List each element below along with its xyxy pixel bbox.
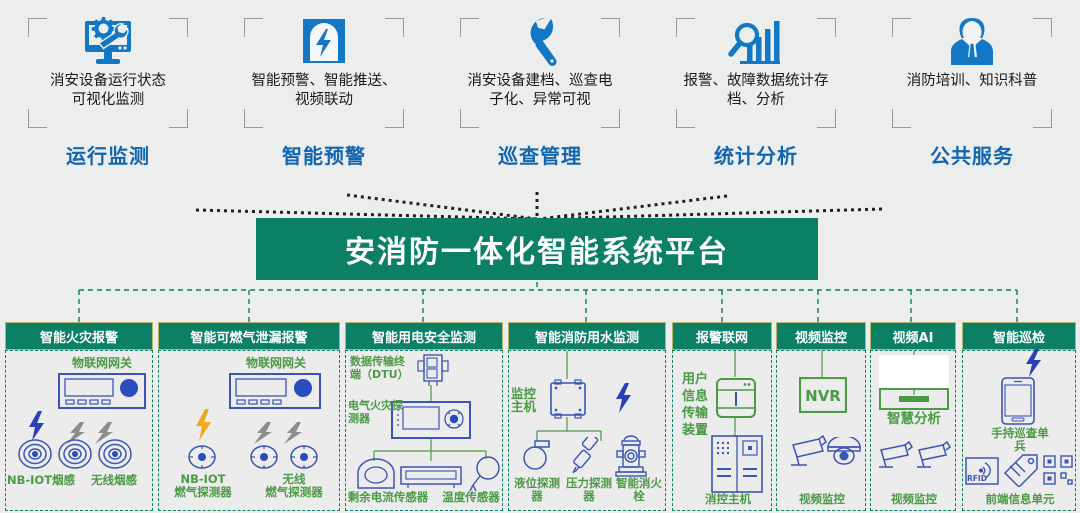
capability-description: 智能预警、智能推送、 视频联动 bbox=[239, 72, 409, 110]
panel-header: 视频AI bbox=[870, 322, 956, 350]
diagram-root: 消安设备运行状态 可视化监测 运行监测 智能预警、智能推送、 视频联动 智能预警 bbox=[0, 0, 1080, 513]
gas-detector-icon-1 bbox=[187, 443, 217, 471]
bullet-camera-icon-1 bbox=[873, 441, 915, 471]
panel-body: 物联网网关 bbox=[5, 350, 153, 511]
subsystem-panel-smart-inspection[interactable]: 智能巡检 手持巡查单 兵 bbox=[962, 320, 1076, 513]
panel-header: 智能消防用水监测 bbox=[508, 322, 666, 350]
platform-title: 安消防一体化智能系统平台 bbox=[345, 227, 729, 271]
panel-body: 智慧分析 bbox=[870, 350, 956, 511]
handheld-terminal-icon bbox=[1001, 377, 1035, 425]
nvr-device-icon: NVR bbox=[799, 377, 847, 413]
bar-chart-magnifier-icon bbox=[726, 14, 786, 70]
subsystem-panel-alarm-network[interactable]: 报警联网 用户 信息 传输 装置 bbox=[672, 320, 772, 513]
panel-wiring bbox=[777, 351, 867, 511]
dome-camera-icon bbox=[825, 437, 863, 469]
panel-body: 手持巡查单 兵 RFID bbox=[962, 350, 1076, 511]
wireless-signal-icon bbox=[251, 421, 315, 445]
smoke-detector-icon-3 bbox=[98, 439, 132, 469]
bus-connector-lines bbox=[0, 282, 1080, 324]
panel-header: 报警联网 bbox=[672, 322, 772, 350]
capability-description: 消安设备运行状态 可视化监测 bbox=[23, 72, 193, 110]
device-label-video-surveillance: 视频监控 bbox=[785, 493, 859, 506]
device-label-fire-control-host: 消控主机 bbox=[691, 493, 765, 506]
gas-detector-icon-3 bbox=[289, 443, 319, 471]
signal-bolt-icon bbox=[193, 409, 213, 441]
device-label-gateway: 物联网网关 bbox=[54, 357, 150, 370]
wrench-icon bbox=[513, 14, 567, 70]
device-label-monitoring-host: 监控 主机 bbox=[511, 387, 555, 413]
capability-title: 巡查管理 bbox=[432, 140, 648, 169]
platform-banner[interactable]: 安消防一体化智能系统平台 bbox=[256, 218, 818, 280]
panel-header: 智能用电安全监测 bbox=[345, 322, 503, 350]
transmission-device-icon bbox=[715, 377, 757, 419]
smoke-detector-icon-2 bbox=[58, 439, 92, 469]
capability-card-public-service[interactable]: 消防培训、知识科普 公共服务 bbox=[864, 0, 1080, 178]
inspection-tag-icon bbox=[1001, 453, 1041, 487]
device-label-video-surveillance: 视频监控 bbox=[871, 493, 957, 506]
capability-description: 消安设备建档、巡查电 子化、异常可视 bbox=[455, 72, 625, 110]
smoke-detector-icon-1 bbox=[18, 439, 52, 469]
subsystem-panel-video-ai[interactable]: 视频AI 智慧分析 bbox=[870, 320, 956, 513]
device-label-wireless-gas: 无线 燃气探测器 bbox=[251, 473, 337, 499]
signal-bolt-icon bbox=[613, 383, 633, 413]
analysis-screen-icon bbox=[879, 355, 949, 411]
bullet-camera-icon bbox=[783, 435, 829, 469]
subsystem-panel-video-surveillance[interactable]: 视频监控 NVR bbox=[776, 320, 866, 513]
dtu-icon bbox=[416, 353, 450, 387]
subsystem-panel-gas-leak[interactable]: 智能可燃气泄漏报警 物联网网关 bbox=[158, 320, 340, 513]
panel-body: 监控 主机 bbox=[508, 350, 666, 511]
temperature-sensor-icon bbox=[464, 455, 502, 493]
capability-title: 智能预警 bbox=[216, 140, 432, 169]
panel-body: 用户 信息 传输 装置 bbox=[672, 350, 772, 511]
subsystem-panel-electrical-safety[interactable]: 智能用电安全监测 bbox=[345, 320, 503, 513]
panel-header: 智能火灾报警 bbox=[5, 322, 153, 350]
panel-header: 智能巡检 bbox=[962, 322, 1076, 350]
device-label-smart-hydrant: 智能消火 栓 bbox=[611, 477, 667, 503]
capability-title: 运行监测 bbox=[0, 140, 216, 169]
sensor-bar-icon bbox=[400, 463, 462, 489]
device-label-dtu: 数据传输终 端（DTU） bbox=[350, 355, 416, 381]
signal-bolt-icon bbox=[26, 411, 46, 441]
capability-card-inspection-management[interactable]: 消安设备建档、巡查电 子化、异常可视 巡查管理 bbox=[432, 0, 648, 178]
fan-connector-lines bbox=[0, 168, 1080, 224]
subsystem-panel-water-monitoring[interactable]: 智能消防用水监测 bbox=[508, 320, 666, 513]
device-label-nbiot-smoke: NB-IOT烟感 bbox=[6, 474, 76, 487]
capability-title: 公共服务 bbox=[864, 140, 1080, 169]
fire-control-host-icon bbox=[711, 435, 763, 493]
capability-description: 消防培训、知识科普 bbox=[887, 72, 1057, 91]
capability-row: 消安设备运行状态 可视化监测 运行监测 智能预警、智能推送、 视频联动 智能预警 bbox=[0, 0, 1080, 178]
device-label-electrical-detector: 电气火灾探 测器 bbox=[348, 399, 406, 425]
iot-gateway-icon bbox=[229, 373, 321, 409]
device-label-temperature-sensor: 温度传感器 bbox=[434, 491, 508, 504]
device-label-liquid-level: 液位探测 器 bbox=[509, 477, 565, 503]
device-label-pressure: 压力探测 器 bbox=[561, 477, 617, 503]
device-label-residual-current: 剩余电流传感器 bbox=[342, 491, 434, 504]
person-tie-icon bbox=[945, 14, 999, 70]
svg-text:NVR: NVR bbox=[805, 387, 841, 405]
panel-header: 智能可燃气泄漏报警 bbox=[158, 322, 340, 350]
capability-title: 统计分析 bbox=[648, 140, 864, 169]
smart-hydrant-icon bbox=[613, 435, 649, 477]
device-label-gateway: 物联网网关 bbox=[221, 357, 331, 370]
panel-body: 数据传输终 端（DTU） 电气火灾探 测器 bbox=[345, 350, 503, 511]
device-label-wireless-smoke: 无线烟感 bbox=[78, 474, 150, 487]
signal-bolt-icon bbox=[1023, 349, 1043, 377]
subsystem-panel-fire-alarm[interactable]: 智能火灾报警 物联网网关 bbox=[5, 320, 153, 513]
panel-header: 视频监控 bbox=[776, 322, 866, 350]
capability-description: 报警、故障数据统计存 档、分析 bbox=[671, 72, 841, 110]
qr-code-icon bbox=[1043, 455, 1073, 485]
pressure-detector-icon bbox=[567, 437, 607, 475]
device-label-front-end-unit: 前端信息单元 bbox=[963, 493, 1077, 506]
subsystem-panels: 智能火灾报警 物联网网关 bbox=[0, 320, 1080, 513]
device-label-handheld-inspector: 手持巡查单 兵 bbox=[969, 427, 1071, 453]
gas-detector-icon-2 bbox=[249, 443, 279, 471]
monitor-gear-wrench-icon bbox=[79, 14, 137, 70]
residual-current-sensor-icon bbox=[354, 457, 398, 489]
bullet-camera-icon-2 bbox=[911, 441, 953, 471]
svg-text:RFID: RFID bbox=[967, 474, 987, 483]
device-label-nbiot-gas: NB-IOT 燃气探测器 bbox=[163, 473, 243, 499]
capability-card-statistics-analysis[interactable]: 报警、故障数据统计存 档、分析 统计分析 bbox=[648, 0, 864, 178]
device-label-smart-analysis: 智慧分析 bbox=[871, 413, 957, 426]
liquid-level-detector-icon bbox=[519, 439, 557, 471]
capability-card-smart-warning[interactable]: 智能预警、智能推送、 视频联动 智能预警 bbox=[216, 0, 432, 178]
rfid-tag-icon: RFID bbox=[965, 457, 999, 485]
device-label-user-transmitter: 用户 信息 传输 装置 bbox=[677, 371, 713, 439]
lightning-alert-icon bbox=[297, 14, 351, 70]
panel-body: 物联网网关 bbox=[158, 350, 340, 511]
capability-card-operation-monitoring[interactable]: 消安设备运行状态 可视化监测 运行监测 bbox=[0, 0, 216, 178]
panel-body: NVR bbox=[776, 350, 866, 511]
iot-gateway-icon bbox=[58, 373, 146, 409]
